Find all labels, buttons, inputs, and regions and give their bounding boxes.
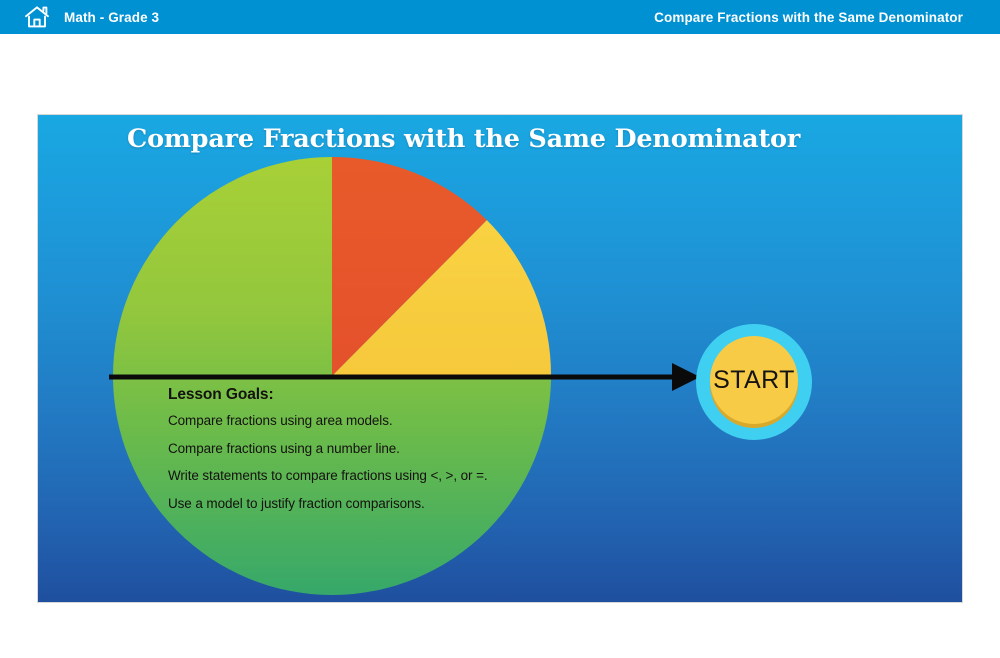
lesson-goals-block: Lesson Goals: Compare fractions using ar… bbox=[168, 386, 568, 523]
slide-title: Compare Fractions with the Same Denomina… bbox=[127, 124, 800, 154]
lesson-goal-item: Write statements to compare fractions us… bbox=[168, 468, 568, 483]
lesson-goal-item: Compare fractions using area models. bbox=[168, 413, 568, 428]
app-header-bar: Math - Grade 3 Compare Fractions with th… bbox=[0, 0, 1000, 34]
lesson-slide-stage: Compare Fractions with the Same Denomina… bbox=[37, 114, 963, 603]
start-button-label: START bbox=[713, 366, 795, 395]
lesson-goal-item: Compare fractions using a number line. bbox=[168, 441, 568, 456]
start-button[interactable]: START bbox=[696, 324, 812, 440]
start-button-face: START bbox=[710, 336, 798, 424]
subject-title: Math - Grade 3 bbox=[64, 10, 159, 25]
lesson-goal-item: Use a model to justify fraction comparis… bbox=[168, 496, 568, 511]
fraction-pie-illustration bbox=[38, 115, 962, 602]
home-icon[interactable] bbox=[24, 5, 50, 29]
lesson-goals-heading: Lesson Goals: bbox=[168, 386, 568, 404]
lesson-title-header: Compare Fractions with the Same Denomina… bbox=[654, 0, 963, 34]
